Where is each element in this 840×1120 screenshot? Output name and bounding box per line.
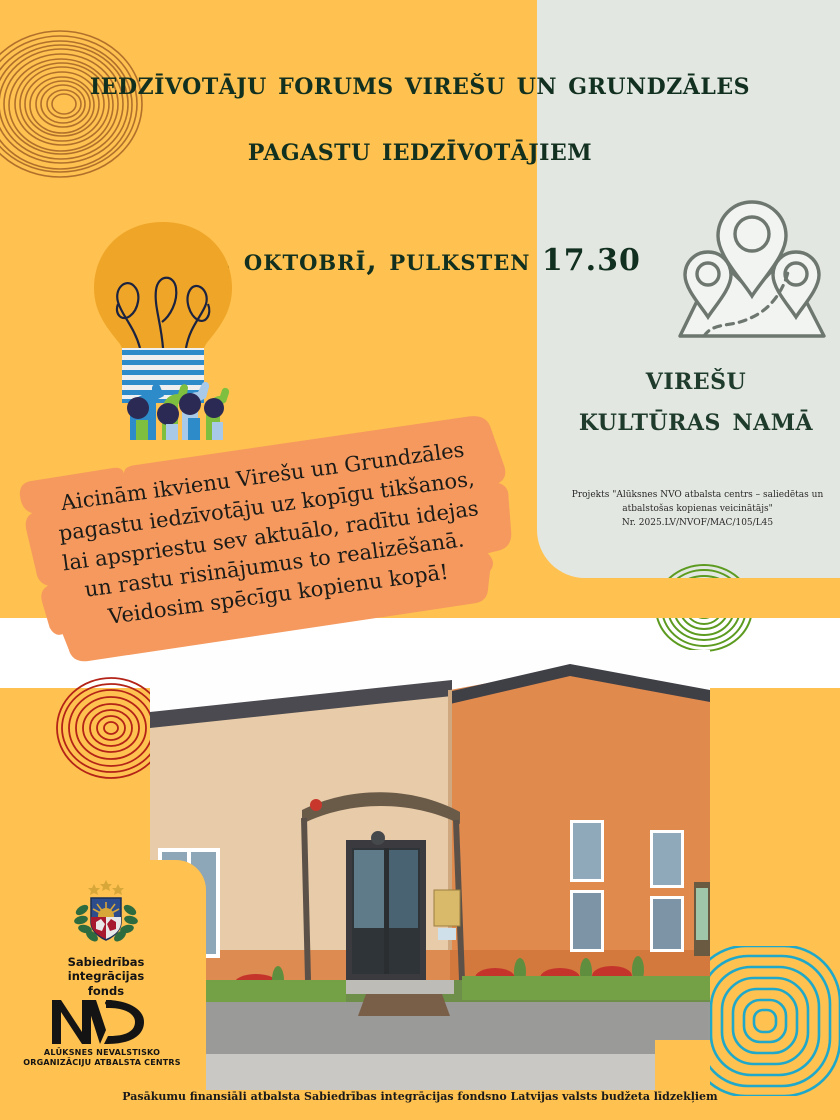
photo-corner-mask-right [655, 1040, 710, 1090]
footer-funding-note: Pasākumu finansiāli atbalsta Sabiedrības… [0, 1090, 840, 1103]
venue-line-2: kultūras namā [552, 399, 840, 440]
venue-name: Virešu kultūras namā [552, 358, 840, 440]
sif-caption-line-1: Sabiedrības integrācijas [28, 955, 184, 984]
headline-line-2: pagastu iedzīvotājiem [0, 130, 840, 170]
spiral-decoration-teal-icon [690, 946, 840, 1096]
sif-logo: Sabiedrības integrācijas fonds [28, 876, 184, 998]
project-info-block: Projekts "Alūksnes NVO atbalsta centrs –… [560, 489, 835, 531]
venue-line-1: Virešu [552, 358, 840, 399]
orange-strip-under-sage [537, 578, 840, 618]
nvo-caption: ALŪKSNES NEVALSTISKO ORGANIZĀCIJU ATBALS… [22, 1048, 182, 1067]
project-info-line-3: Nr. 2025.LV/NVOF/MAC/105/L45 [560, 517, 835, 531]
sif-caption: Sabiedrības integrācijas fonds [28, 955, 184, 998]
map-pins-icon [672, 196, 832, 346]
latvia-coat-of-arms-icon [69, 876, 143, 950]
nvo-caption-line-1: ALŪKSNES NEVALSTISKO [22, 1048, 182, 1058]
nvo-logo: ALŪKSNES NEVALSTISKO ORGANIZĀCIJU ATBALS… [22, 994, 182, 1067]
project-info-line-1: Projekts "Alūksnes NVO atbalsta centrs –… [560, 489, 835, 503]
project-info-line-2: atbalstošas kopienas veicinātājs" [560, 503, 835, 517]
nvo-monogram-icon [48, 994, 156, 1048]
nvo-caption-line-2: ORGANIZĀCIJU ATBALSTA CENTRS [22, 1058, 182, 1068]
headline-line-1: Iedzīvotāju forums Virešu un Grundzāles [0, 64, 840, 104]
culture-house-photo [150, 650, 710, 1090]
poster-canvas: Iedzīvotāju forums Virešu un Grundzāles … [0, 0, 840, 1120]
lightbulb-teamwork-icon [78, 218, 248, 440]
poster-headline: Iedzīvotāju forums Virešu un Grundzāles … [0, 64, 840, 171]
